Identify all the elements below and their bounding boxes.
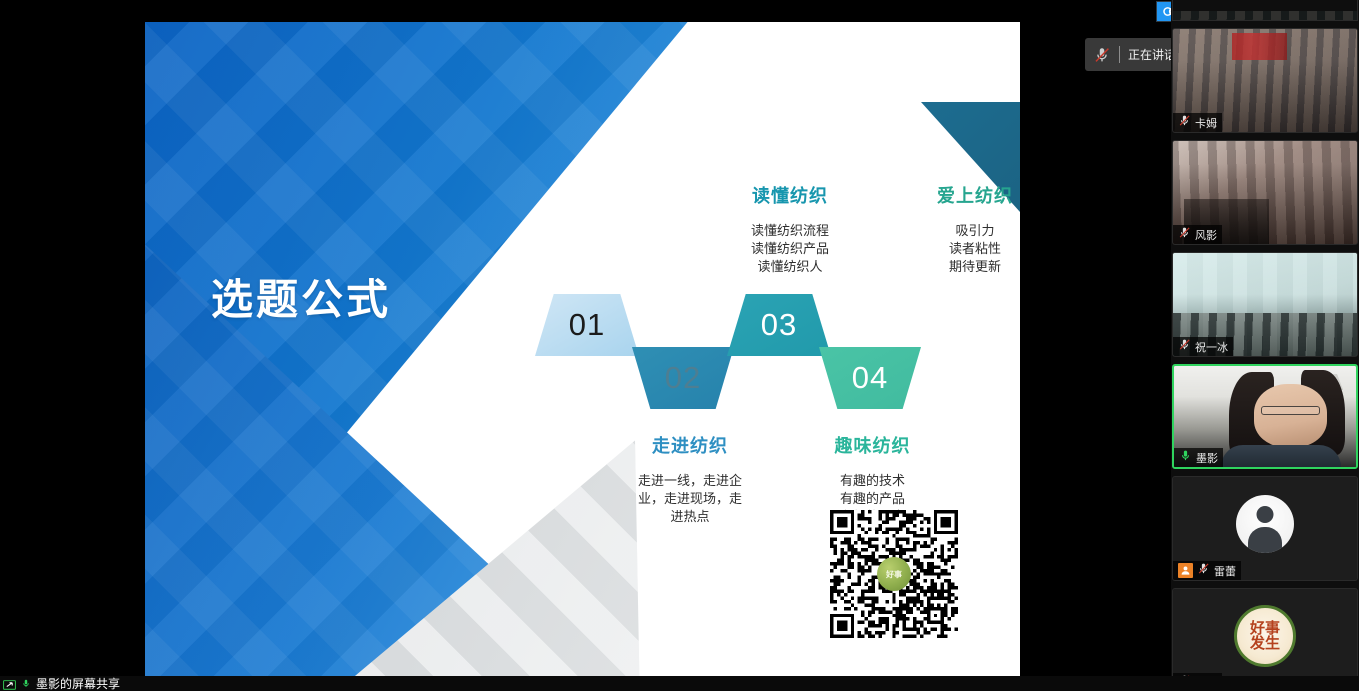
host-badge bbox=[1178, 563, 1193, 578]
decor-torso bbox=[1221, 445, 1341, 467]
avatar bbox=[1236, 495, 1294, 553]
screen-share-stage[interactable]: 选题公式 01 02 03 04 读懂纺织 读懂纺织流程 读懂纺织产品 读懂纺织… bbox=[0, 0, 1171, 676]
participant-name: 卡姆 bbox=[1195, 115, 1217, 131]
step-heading-02: 读懂纺织 bbox=[705, 182, 875, 208]
step-heading-03: 趣味纺织 bbox=[790, 432, 955, 458]
participant-tile-zhuyibing[interactable]: 祝一冰 bbox=[1172, 252, 1358, 357]
meeting-window: 选题公式 01 02 03 04 读懂纺织 读懂纺织流程 读懂纺织产品 读懂纺织… bbox=[0, 0, 1359, 691]
step-number-02: 02 bbox=[665, 360, 701, 396]
toolbar-divider bbox=[1119, 46, 1120, 63]
mic-on-icon bbox=[21, 677, 31, 690]
screen-share-label: 墨影的屏幕共享 bbox=[36, 675, 120, 691]
step-shape-03: 03 bbox=[727, 294, 831, 356]
participant-namebar: 墨影 bbox=[1174, 448, 1223, 467]
step-body-01: 走进一线，走进企 业，走进现场，走 进热点 bbox=[610, 472, 770, 526]
qr-code: 好事 bbox=[830, 510, 958, 638]
participant-name: 墨影 bbox=[1196, 450, 1218, 466]
step-shape-02: 02 bbox=[632, 347, 734, 409]
participant-namebar: 祝一冰 bbox=[1173, 337, 1233, 356]
slide-title: 选题公式 bbox=[211, 266, 391, 327]
avatar-head bbox=[1257, 506, 1274, 523]
step-text-group-04: 爱上纺织 吸引力 读者粘性 期待更新 bbox=[890, 182, 1020, 276]
qr-logo-line1: 好事 bbox=[886, 570, 902, 579]
participant-namebar: 卡姆 bbox=[1173, 113, 1222, 132]
participant-name: 祝一冰 bbox=[1195, 339, 1228, 355]
mic-muted-icon bbox=[1178, 114, 1191, 132]
participant-namebar: 雷蕾 bbox=[1173, 561, 1241, 580]
presentation-slide: 选题公式 01 02 03 04 读懂纺织 读懂纺织流程 读懂纺织产品 读懂纺织… bbox=[145, 22, 1020, 676]
decor-glasses bbox=[1261, 406, 1319, 415]
mic-muted-icon bbox=[1178, 226, 1191, 244]
mic-muted-icon bbox=[1197, 562, 1210, 580]
participant-name: 风影 bbox=[1195, 227, 1217, 243]
step-number-03: 03 bbox=[761, 307, 797, 343]
step-text-group-02: 读懂纺织 读懂纺织流程 读懂纺织产品 读懂纺织人 bbox=[705, 182, 875, 276]
qr-code-logo: 好事 bbox=[877, 557, 911, 591]
step-number-04: 04 bbox=[852, 360, 888, 396]
avatar-stamp-logo: 好事发生 bbox=[1234, 605, 1296, 667]
participant-tile-moying[interactable]: 墨影 bbox=[1172, 364, 1358, 469]
participant-rail[interactable]: 卡姆 风影 bbox=[1171, 0, 1359, 691]
screen-share-statusbar: 墨影的屏幕共享 bbox=[0, 676, 1359, 691]
step-shape-01: 01 bbox=[535, 294, 639, 356]
decor-face bbox=[1254, 384, 1327, 447]
mic-muted-icon[interactable] bbox=[1093, 46, 1111, 64]
mic-muted-icon bbox=[1178, 338, 1191, 356]
step-heading-04: 爱上纺织 bbox=[890, 182, 1020, 208]
step-number-01: 01 bbox=[569, 307, 605, 343]
participant-tile-leilei[interactable]: 雷蕾 bbox=[1172, 476, 1358, 581]
step-heading-01: 走进纺织 bbox=[610, 432, 770, 458]
avatar-body bbox=[1248, 527, 1282, 553]
step-text-group-01: 走进纺织 走进一线，走进企 业，走进现场，走 进热点 bbox=[610, 432, 770, 526]
participant-namebar: 风影 bbox=[1173, 225, 1222, 244]
participant-tile-fengying[interactable]: 风影 bbox=[1172, 140, 1358, 245]
step-body-02: 读懂纺织流程 读懂纺织产品 读懂纺织人 bbox=[705, 222, 875, 276]
participant-tile-kamu[interactable]: 卡姆 bbox=[1172, 28, 1358, 133]
participant-tile-partial[interactable] bbox=[1172, 0, 1358, 21]
participant-name: 雷蕾 bbox=[1214, 563, 1236, 579]
mic-on-icon bbox=[1179, 449, 1192, 467]
avatar-stamp-text: 好事发生 bbox=[1250, 622, 1280, 652]
screen-share-icon bbox=[3, 678, 16, 689]
step-body-04: 吸引力 读者粘性 期待更新 bbox=[890, 222, 1020, 276]
step-shape-04: 04 bbox=[819, 347, 921, 409]
